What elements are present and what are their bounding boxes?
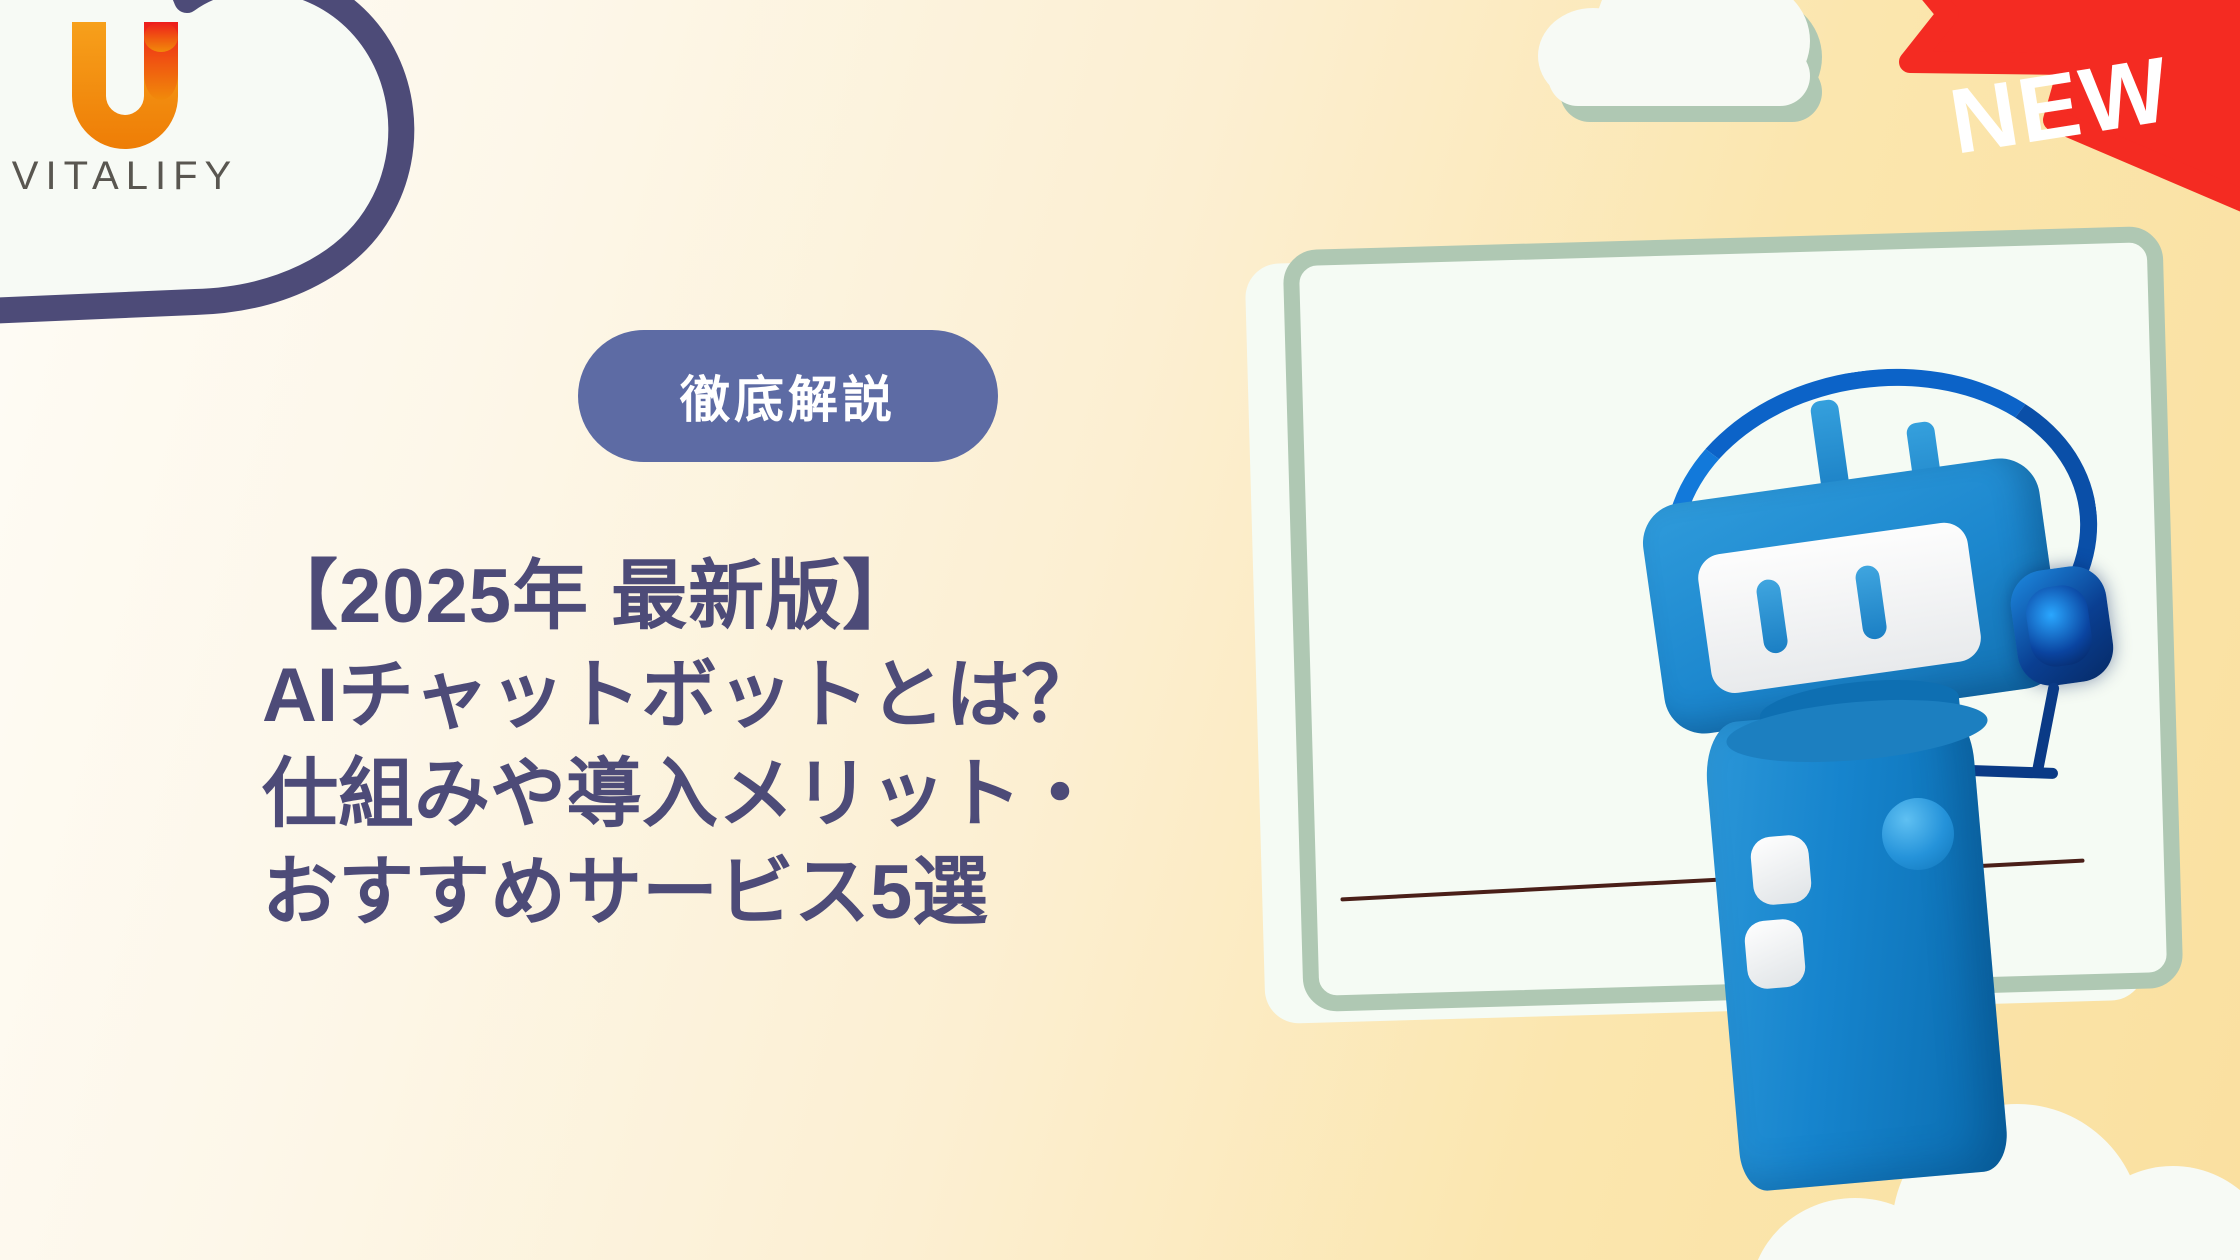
brand-logo-cloud[interactable]: VITALIFY xyxy=(0,0,495,450)
robot-face-panel xyxy=(1695,520,1984,696)
robot-body-button-top xyxy=(1749,834,1813,907)
decor-cloud-top xyxy=(1530,0,1830,92)
robot-eye-left xyxy=(1755,578,1789,655)
ai-chatbot-robot xyxy=(1610,330,2230,1230)
new-badge-ribbon: NEW xyxy=(1858,0,2240,244)
category-badge-label: 徹底解説 xyxy=(680,360,896,432)
robot-mic-boom-upper xyxy=(2031,682,2060,778)
robot-shoulder-joint xyxy=(1882,798,1954,870)
page-title-line-2: AIチャットボットとは？ xyxy=(262,647,1272,746)
hero-banner: VITALIFY NEW 徹底解説 【2025年 最新版】 AIチャットボットと… xyxy=(0,0,2240,1260)
robot-body-button-bottom xyxy=(1743,918,1807,991)
vitalify-u-mark-icon xyxy=(50,10,200,150)
page-title-line-4: おすすめサービス5選 xyxy=(262,844,1272,943)
page-title: 【2025年 最新版】 AIチャットボットとは？ 仕組みや導入メリット・ おすす… xyxy=(262,548,1272,943)
robot-eye-right xyxy=(1854,564,1888,641)
category-badge[interactable]: 徹底解説 xyxy=(578,330,998,462)
page-title-line-3: 仕組みや導入メリット・ xyxy=(262,746,1272,845)
page-title-line-1: 【2025年 最新版】 xyxy=(262,548,1272,647)
brand-wordmark: VITALIFY xyxy=(12,154,238,199)
cloud-top-body xyxy=(1530,0,1830,92)
